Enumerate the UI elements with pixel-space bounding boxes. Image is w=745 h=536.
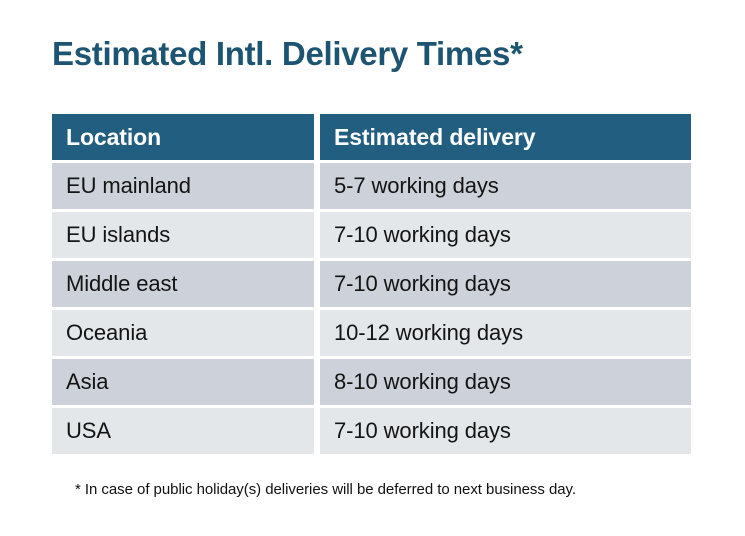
cell-location: Oceania xyxy=(52,310,314,356)
table-row: Middle east 7-10 working days xyxy=(52,261,691,307)
cell-location: EU mainland xyxy=(52,163,314,209)
cell-estimated-delivery: 10-12 working days xyxy=(320,310,691,356)
cell-estimated-delivery: 7-10 working days xyxy=(320,408,691,454)
cell-estimated-delivery: 5-7 working days xyxy=(320,163,691,209)
page-title: Estimated Intl. Delivery Times* xyxy=(52,36,523,72)
cell-location: USA xyxy=(52,408,314,454)
delivery-times-table: Location Estimated delivery EU mainland … xyxy=(52,114,691,454)
cell-location: Middle east xyxy=(52,261,314,307)
delivery-times-page: Estimated Intl. Delivery Times* Location… xyxy=(0,0,745,536)
table-footnote: * In case of public holiday(s) deliverie… xyxy=(75,481,576,498)
cell-location: EU islands xyxy=(52,212,314,258)
cell-estimated-delivery: 7-10 working days xyxy=(320,261,691,307)
cell-location: Asia xyxy=(52,359,314,405)
column-header-estimated-delivery: Estimated delivery xyxy=(320,114,691,160)
table-row: Asia 8-10 working days xyxy=(52,359,691,405)
table-header-row: Location Estimated delivery xyxy=(52,114,691,160)
table-row: EU mainland 5-7 working days xyxy=(52,163,691,209)
column-header-location: Location xyxy=(52,114,314,160)
table-row: USA 7-10 working days xyxy=(52,408,691,454)
table-row: Oceania 10-12 working days xyxy=(52,310,691,356)
cell-estimated-delivery: 7-10 working days xyxy=(320,212,691,258)
table-row: EU islands 7-10 working days xyxy=(52,212,691,258)
cell-estimated-delivery: 8-10 working days xyxy=(320,359,691,405)
